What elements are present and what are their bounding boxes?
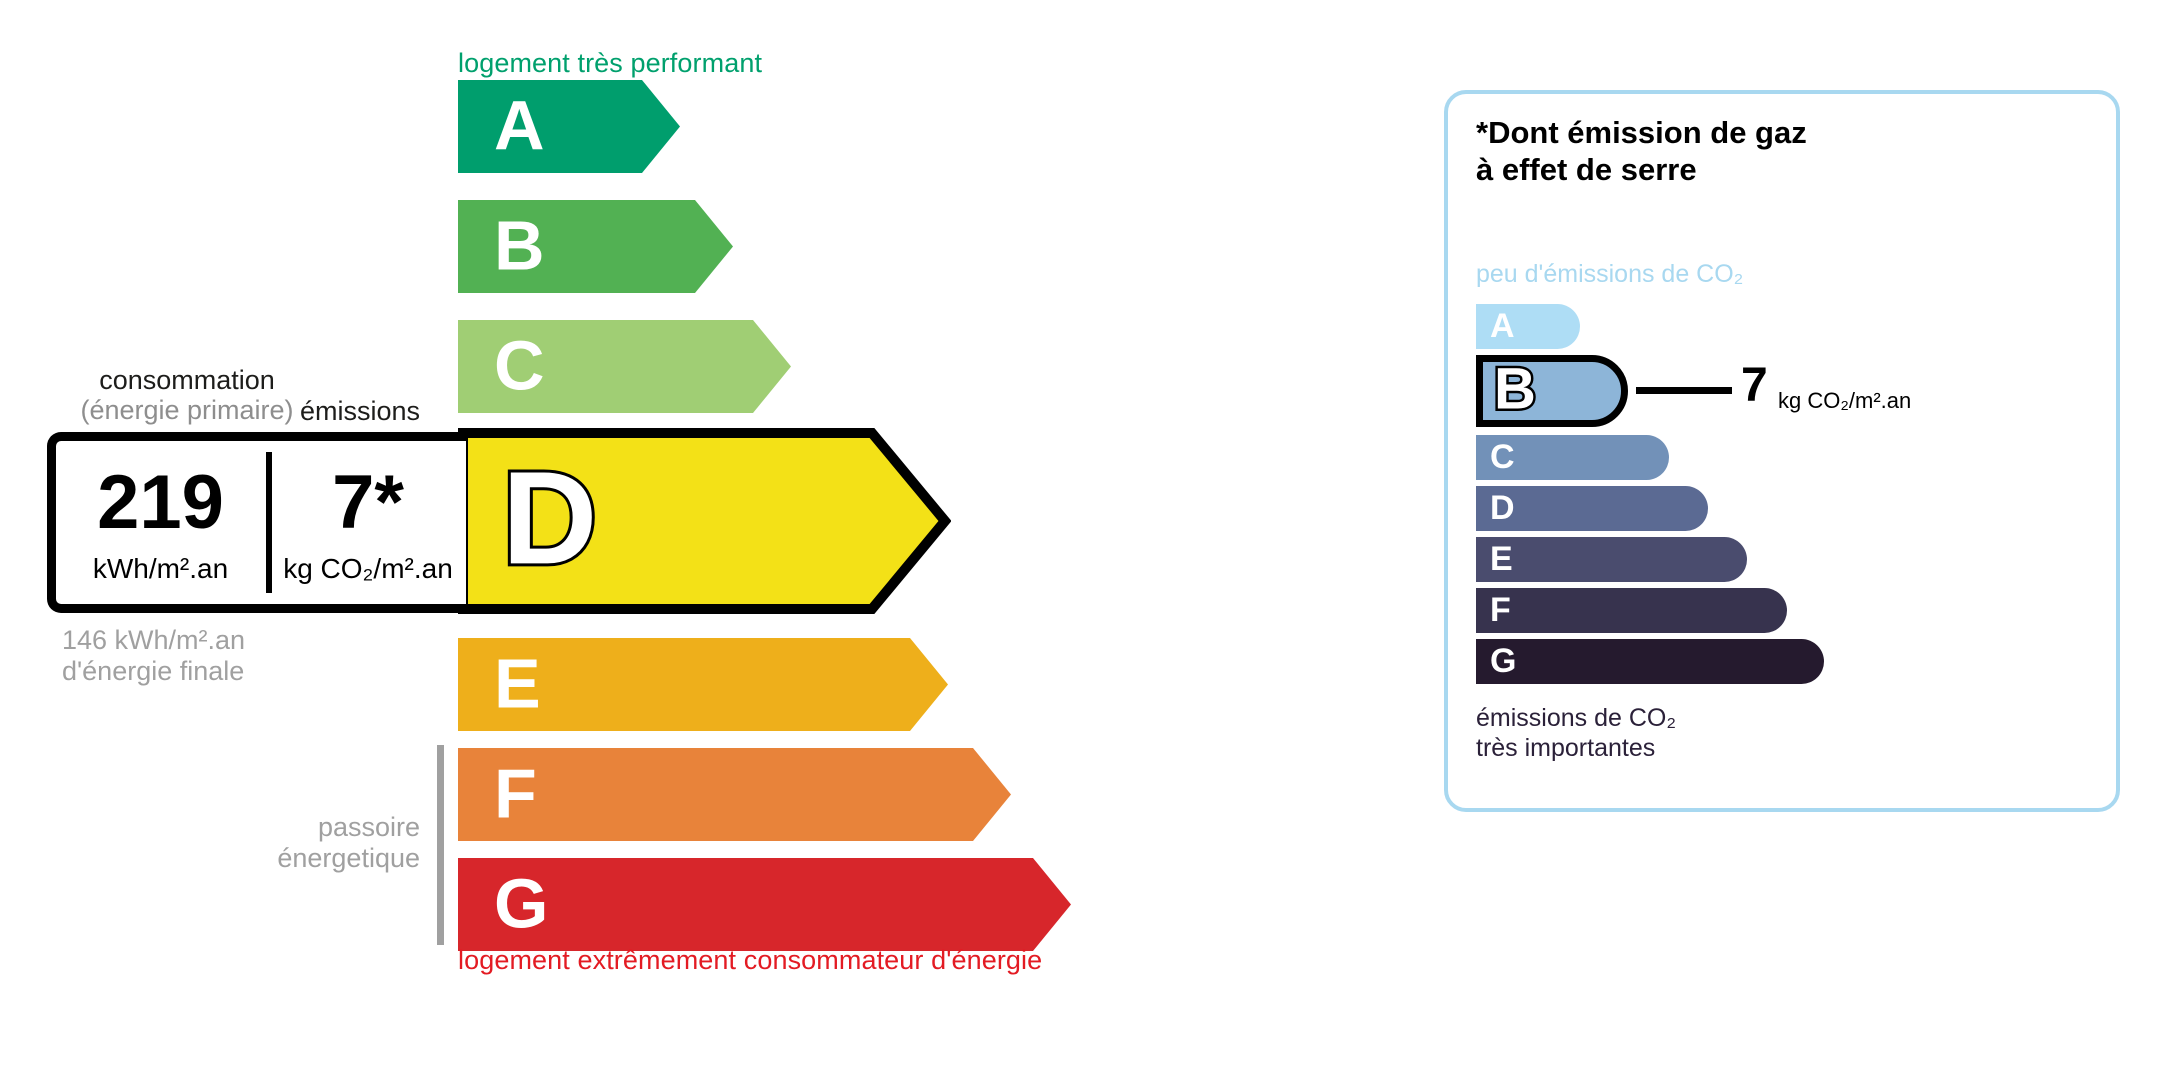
co2-letter-f: F <box>1490 592 1511 626</box>
co2-row-g: G <box>1476 639 1824 684</box>
co2-value: 7 <box>1741 362 1768 410</box>
primary-energy-cell: 219 kWh/m².an <box>56 441 265 604</box>
energy-letter-a: A <box>494 90 545 160</box>
co2-bottom-line2: très importantes <box>1476 734 1655 762</box>
co2-emissions-panel: *Dont émission de gaz à effet de serre p… <box>1444 90 2120 812</box>
energy-row-a: A <box>458 80 680 173</box>
co2-letter-a: A <box>1490 308 1515 342</box>
energy-row-b: B <box>458 200 733 293</box>
co2-bottom-caption: émissions de CO₂ très importantes <box>1476 704 1676 763</box>
arrow-shape-g <box>458 858 1071 951</box>
co2-title-line2: à effet de serre <box>1476 152 1697 187</box>
co2-letter-e: E <box>1490 541 1513 575</box>
energy-letter-d: D <box>502 452 597 584</box>
co2-letter-c: C <box>1490 439 1515 473</box>
dpe-label: logement très performant A B C <box>0 0 2170 1079</box>
co2-bottom-line1: émissions de CO₂ <box>1476 704 1676 732</box>
final-energy-label: 146 kWh/m².an d'énergie finale <box>62 625 245 687</box>
energy-row-c: C <box>458 320 791 413</box>
label-emissions: émissions <box>300 396 420 427</box>
co2-row-e: E <box>1476 537 1747 582</box>
co2-row-a: A <box>1476 304 1580 349</box>
energy-performance-panel: logement très performant A B C <box>0 0 1380 1079</box>
co2-row-c: C <box>1476 435 1669 480</box>
co2-row-b-selected: B <box>1476 355 1628 427</box>
co2-bar-g <box>1476 639 1824 684</box>
consumption-value-box: 219 kWh/m².an 7* kg CO₂/m².an <box>47 432 466 613</box>
passoire-label: passoire énergetique <box>230 812 420 874</box>
passoire-line2: énergetique <box>277 843 420 873</box>
energy-letter-f: F <box>494 758 537 828</box>
co2-panel-title: *Dont émission de gaz à effet de serre <box>1476 114 1807 188</box>
energy-row-d-selected: D <box>458 428 951 614</box>
co2-bar-f <box>1476 588 1787 633</box>
energy-row-g: G <box>458 858 1071 951</box>
energy-letter-e: E <box>494 648 541 718</box>
primary-energy-value: 219 <box>56 465 265 541</box>
final-energy-text: d'énergie finale <box>62 656 244 686</box>
label-consommation: consommation (énergie primaire) <box>62 365 312 425</box>
co2-row-f: F <box>1476 588 1787 633</box>
energy-letter-g: G <box>494 868 548 938</box>
co2-letter-g: G <box>1490 643 1516 677</box>
label-consommation-sub: (énergie primaire) <box>62 395 312 425</box>
emissions-value: 7* <box>270 465 466 541</box>
co2-row-d: D <box>1476 486 1708 531</box>
passoire-indicator-bar <box>437 745 444 945</box>
energy-letter-c: C <box>494 330 545 400</box>
passoire-line1: passoire <box>318 812 420 842</box>
energy-top-caption: logement très performant <box>458 48 762 79</box>
primary-energy-unit: kWh/m².an <box>56 554 265 585</box>
co2-connector-line <box>1636 387 1732 394</box>
co2-bar-e <box>1476 537 1747 582</box>
value-box-divider <box>266 452 272 593</box>
co2-title-line1: *Dont émission de gaz <box>1476 115 1807 150</box>
energy-letter-b: B <box>494 210 545 280</box>
energy-row-f: F <box>458 748 1011 841</box>
energy-row-e: E <box>458 638 948 731</box>
arrow-shape-a <box>458 80 680 173</box>
arrow-shape-f <box>458 748 1011 841</box>
label-consommation-main: consommation <box>99 365 275 395</box>
emissions-value-cell: 7* kg CO₂/m².an <box>270 441 466 604</box>
co2-top-caption: peu d'émissions de CO₂ <box>1476 260 1743 289</box>
co2-value-unit: kg CO₂/m².an <box>1778 390 1911 412</box>
co2-letter-b: B <box>1494 360 1536 418</box>
co2-letter-d: D <box>1490 490 1515 524</box>
emissions-unit: kg CO₂/m².an <box>270 554 466 585</box>
final-energy-value: 146 kWh/m².an <box>62 625 245 655</box>
energy-bottom-caption: logement extrêmement consommateur d'éner… <box>458 945 1042 976</box>
